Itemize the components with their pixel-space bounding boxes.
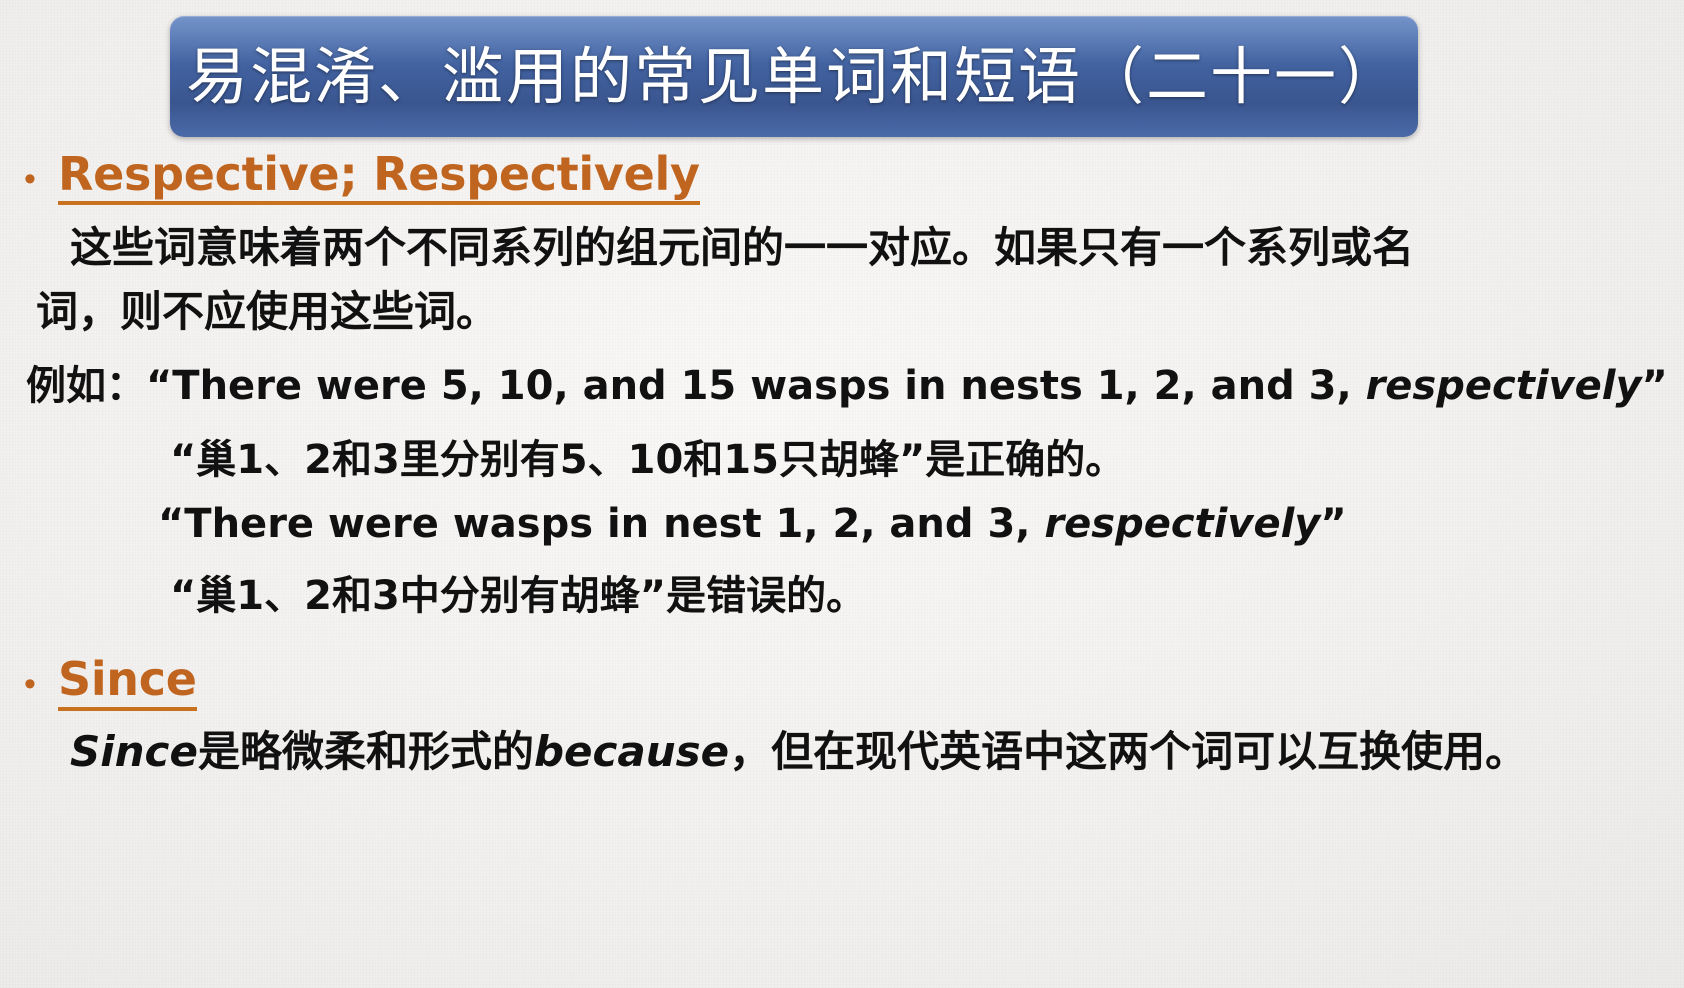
quote-open: “: [170, 573, 196, 619]
quote-open: “: [170, 437, 196, 483]
quote-close: ”: [1642, 363, 1668, 409]
paragraph-since: Since是略微柔和形式的because，但在现代英语中这两个词可以互换使用。: [0, 727, 1684, 777]
example-text-italic: respectively: [1044, 501, 1320, 547]
since-tail-text: ，但在现代英语中这两个词可以互换使用。: [729, 727, 1527, 776]
example-text-plain: 巢1、2和3里分别有5、10和15只胡蜂: [196, 437, 899, 483]
since-mid-text: 是略微柔和形式的: [198, 727, 534, 776]
paragraph-line-1: 这些词意味着两个不同系列的组元间的一一对应。如果只有一个系列或名: [0, 223, 1684, 273]
section-heading-since: • Since: [0, 655, 1684, 710]
paragraph-line-2: 词，则不应使用这些词。: [0, 287, 1684, 337]
example-text-plain: There were 5, 10, and 15 wasps in nests …: [172, 363, 1365, 409]
example-line-3: “There were wasps in nest 1, 2, and 3, r…: [0, 501, 1684, 547]
example-label: 例如：: [26, 363, 146, 409]
quote-close: ”: [899, 437, 925, 483]
example-suffix: 是错误的。: [666, 573, 866, 619]
slide-title-bar: 易混淆、滥用的常见单词和短语（二十一）: [170, 16, 1418, 137]
quote-open: “: [158, 501, 184, 547]
slide-canvas: 易混淆、滥用的常见单词和短语（二十一） • Respective; Respec…: [0, 0, 1684, 988]
slide-body: • Respective; Respectively 这些词意味着两个不同系列的…: [0, 150, 1684, 777]
example-line-4: “巢1、2和3中分别有胡蜂”是错误的。: [0, 563, 1684, 621]
page-title: 易混淆、滥用的常见单词和短语（二十一）: [186, 46, 1402, 108]
quote-close: ”: [1320, 501, 1346, 547]
since-italic-2: because: [534, 727, 729, 776]
heading-since: Since: [58, 655, 197, 710]
example-text-plain: 巢1、2和3中分别有胡蜂: [196, 573, 640, 619]
quote-close: ”: [640, 573, 666, 619]
section-heading-respective: • Respective; Respectively: [0, 150, 1684, 205]
example-text-plain: There were wasps in nest 1, 2, and 3,: [184, 501, 1044, 547]
since-italic-1: Since: [70, 727, 198, 776]
example-line-2: “巢1、2和3里分别有5、10和15只胡蜂”是正确的。: [0, 427, 1684, 485]
example-text-italic: respectively: [1366, 363, 1642, 409]
example-line-1: 例如：“There were 5, 10, and 15 wasps in ne…: [0, 353, 1684, 411]
quote-open: “: [146, 363, 172, 409]
example-suffix: 是正确的。: [925, 437, 1125, 483]
bullet-dot-icon: •: [24, 162, 58, 196]
bullet-dot-icon: •: [24, 667, 58, 701]
heading-respective: Respective; Respectively: [58, 150, 700, 205]
